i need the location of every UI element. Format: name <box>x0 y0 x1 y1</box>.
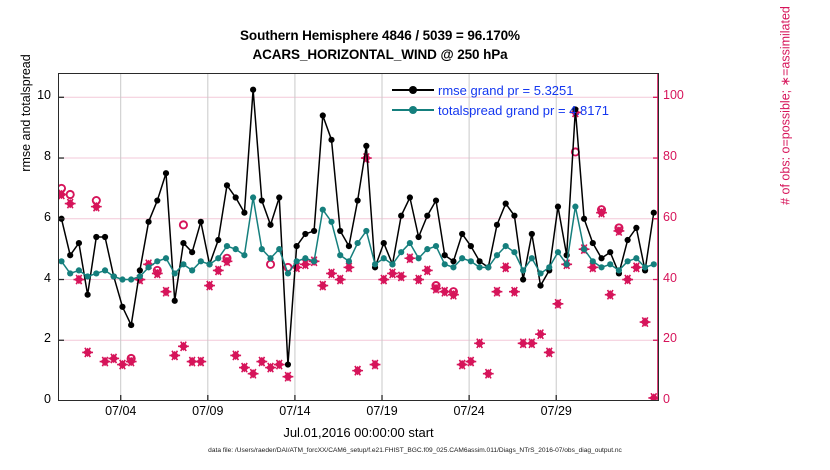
series-point <box>294 258 300 264</box>
series-point <box>372 261 378 267</box>
y-axis-right-tick: 0 <box>663 392 709 406</box>
series-point <box>537 270 543 276</box>
x-axis-tick: 07/19 <box>347 404 417 418</box>
series-point <box>276 246 282 252</box>
series-point <box>598 264 604 270</box>
series-point <box>572 204 578 210</box>
y-axis-right-tick: 80 <box>663 149 709 163</box>
series-point <box>285 270 291 276</box>
series-point <box>145 219 151 225</box>
obs-possible-marker <box>180 221 187 228</box>
series-point <box>224 243 230 249</box>
series-point <box>163 170 169 176</box>
series-point <box>581 216 587 222</box>
series-point <box>407 194 413 200</box>
series-point <box>442 252 448 258</box>
series-point <box>494 222 500 228</box>
series-point <box>76 267 82 273</box>
series-point <box>503 243 509 249</box>
series-point <box>355 240 361 246</box>
y-axis-right-tick: 60 <box>663 210 709 224</box>
series-point <box>607 261 613 267</box>
series-line <box>61 90 653 365</box>
x-axis-tick: 07/04 <box>86 404 156 418</box>
series-point <box>163 255 169 261</box>
chart-canvas <box>58 73 659 401</box>
series-point <box>172 298 178 304</box>
y-axis-right-label: # of obs: o=possible; ∗=assimilated <box>778 0 793 246</box>
series-point <box>85 292 91 298</box>
series-point <box>58 258 64 264</box>
y-axis-right-tick: 40 <box>663 271 709 285</box>
series-point <box>564 261 570 267</box>
series-point <box>267 255 273 261</box>
series-point <box>241 252 247 258</box>
series-point <box>590 240 596 246</box>
series-point <box>172 270 178 276</box>
series-point <box>302 231 308 237</box>
x-axis: 07/0407/0907/1407/1907/2407/29 <box>58 404 659 426</box>
series-point <box>450 264 456 270</box>
series-point <box>651 210 657 216</box>
series-point <box>189 249 195 255</box>
series-point <box>311 228 317 234</box>
obs-possible-marker <box>267 261 274 268</box>
series-point <box>625 237 631 243</box>
series-point <box>128 276 134 282</box>
series-point <box>198 219 204 225</box>
footer-datafile: data file: /Users/raeder/DAI/ATM_forcXX/… <box>0 447 830 454</box>
series-rmse <box>58 87 656 368</box>
series-point <box>416 255 422 261</box>
series-point <box>111 273 117 279</box>
series-point <box>433 197 439 203</box>
y-axis-left-tick: 2 <box>5 331 51 345</box>
series-point <box>459 231 465 237</box>
grid-lines <box>58 73 659 401</box>
legend-label: rmse grand pr = 5.3251 <box>438 83 574 98</box>
y-axis-right: 020406080100 <box>663 73 723 401</box>
series-point <box>511 249 517 255</box>
series-point <box>616 267 622 273</box>
series-point <box>485 264 491 270</box>
series-point <box>285 361 291 367</box>
series-point <box>294 243 300 249</box>
series-point <box>398 213 404 219</box>
series-point <box>102 234 108 240</box>
legend-swatch <box>392 83 434 97</box>
series-point <box>198 258 204 264</box>
series-point <box>607 249 613 255</box>
series-point <box>642 264 648 270</box>
series-point <box>328 219 334 225</box>
series-point <box>555 249 561 255</box>
series-point <box>241 210 247 216</box>
series-point <box>154 197 160 203</box>
series-point <box>651 261 657 267</box>
series-point <box>433 243 439 249</box>
x-axis-tick: 07/29 <box>521 404 591 418</box>
series-point <box>206 261 212 267</box>
series-point <box>520 267 526 273</box>
series-point <box>328 137 334 143</box>
series-point <box>320 207 326 213</box>
plot-area <box>58 73 659 401</box>
y-axis-left-label: rmse and totalspread <box>19 33 33 193</box>
series-point <box>189 267 195 273</box>
chart-legend: rmse grand pr = 5.3251totalspread grand … <box>392 80 609 120</box>
series-point <box>529 255 535 261</box>
series-point <box>625 258 631 264</box>
series-point <box>119 276 125 282</box>
y-axis-left-tick: 0 <box>5 392 51 406</box>
series-point <box>520 276 526 282</box>
series-point <box>424 213 430 219</box>
x-axis-label: Jul.01,2016 00:00:00 start <box>58 425 659 440</box>
series-point <box>250 194 256 200</box>
series-point <box>215 255 221 261</box>
tick-marks <box>58 73 659 401</box>
series-point <box>259 197 265 203</box>
series-point <box>598 255 604 261</box>
series-point <box>346 243 352 249</box>
legend-marker-icon <box>409 106 417 114</box>
series-point <box>67 270 73 276</box>
series-point <box>424 246 430 252</box>
page-title: Southern Hemisphere 4846 / 5039 = 96.170… <box>0 26 760 64</box>
series-point <box>389 261 395 267</box>
y-axis-left-tick: 4 <box>5 271 51 285</box>
series-point <box>102 267 108 273</box>
series-point <box>476 258 482 264</box>
series-point <box>233 194 239 200</box>
series-point <box>67 252 73 258</box>
series-point <box>259 246 265 252</box>
series-point <box>442 261 448 267</box>
series-point <box>581 246 587 252</box>
series-point <box>503 200 509 206</box>
series-point <box>381 255 387 261</box>
legend-swatch <box>392 103 434 117</box>
series-point <box>346 258 352 264</box>
series-point <box>476 264 482 270</box>
series-point <box>337 252 343 258</box>
series-point <box>355 197 361 203</box>
y-axis-right-tick: 20 <box>663 331 709 345</box>
x-axis-tick: 07/09 <box>173 404 243 418</box>
x-axis-tick: 07/24 <box>434 404 504 418</box>
series-point <box>311 258 317 264</box>
series-point <box>76 240 82 246</box>
series-point <box>459 255 465 261</box>
series-point <box>633 225 639 231</box>
series-point <box>302 255 308 261</box>
series-point <box>546 264 552 270</box>
series-point <box>180 261 186 267</box>
series-point <box>128 322 134 328</box>
legend-item[interactable]: totalspread grand pr = 4.8171 <box>392 100 609 120</box>
series-point <box>267 222 273 228</box>
series-point <box>93 234 99 240</box>
series-point <box>537 282 543 288</box>
series-point <box>363 228 369 234</box>
series-point <box>416 234 422 240</box>
series-point <box>398 249 404 255</box>
series-point <box>555 204 561 210</box>
x-axis-tick: 07/14 <box>260 404 330 418</box>
legend-item[interactable]: rmse grand pr = 5.3251 <box>392 80 609 100</box>
series-point <box>180 240 186 246</box>
title-line-2: ACARS_HORIZONTAL_WIND @ 250 hPa <box>0 45 760 64</box>
series-point <box>363 143 369 149</box>
series-point <box>590 258 596 264</box>
y-axis-right-tick: 100 <box>663 88 709 102</box>
series-point <box>633 255 639 261</box>
series-point <box>407 240 413 246</box>
series-point <box>494 252 500 258</box>
series-point <box>137 267 143 273</box>
series-point <box>450 258 456 264</box>
series-point <box>85 273 91 279</box>
series-point <box>320 112 326 118</box>
series-point <box>224 182 230 188</box>
obs-possible-marker <box>67 191 74 198</box>
series-point <box>154 258 160 264</box>
series-point <box>145 264 151 270</box>
series-point <box>137 273 143 279</box>
series-point <box>233 246 239 252</box>
y-axis-left-tick: 6 <box>5 210 51 224</box>
series-point <box>511 213 517 219</box>
series-point <box>337 228 343 234</box>
series-point <box>381 240 387 246</box>
legend-label: totalspread grand pr = 4.8171 <box>438 103 609 118</box>
series-point <box>93 270 99 276</box>
series-point <box>468 258 474 264</box>
series-point <box>215 237 221 243</box>
series-point <box>119 304 125 310</box>
series-point <box>250 87 256 93</box>
chart-page: Southern Hemisphere 4846 / 5039 = 96.170… <box>0 0 830 470</box>
series-point <box>468 243 474 249</box>
title-line-1: Southern Hemisphere 4846 / 5039 = 96.170… <box>240 28 520 43</box>
legend-marker-icon <box>409 86 417 94</box>
series-point <box>276 194 282 200</box>
series-point <box>529 231 535 237</box>
